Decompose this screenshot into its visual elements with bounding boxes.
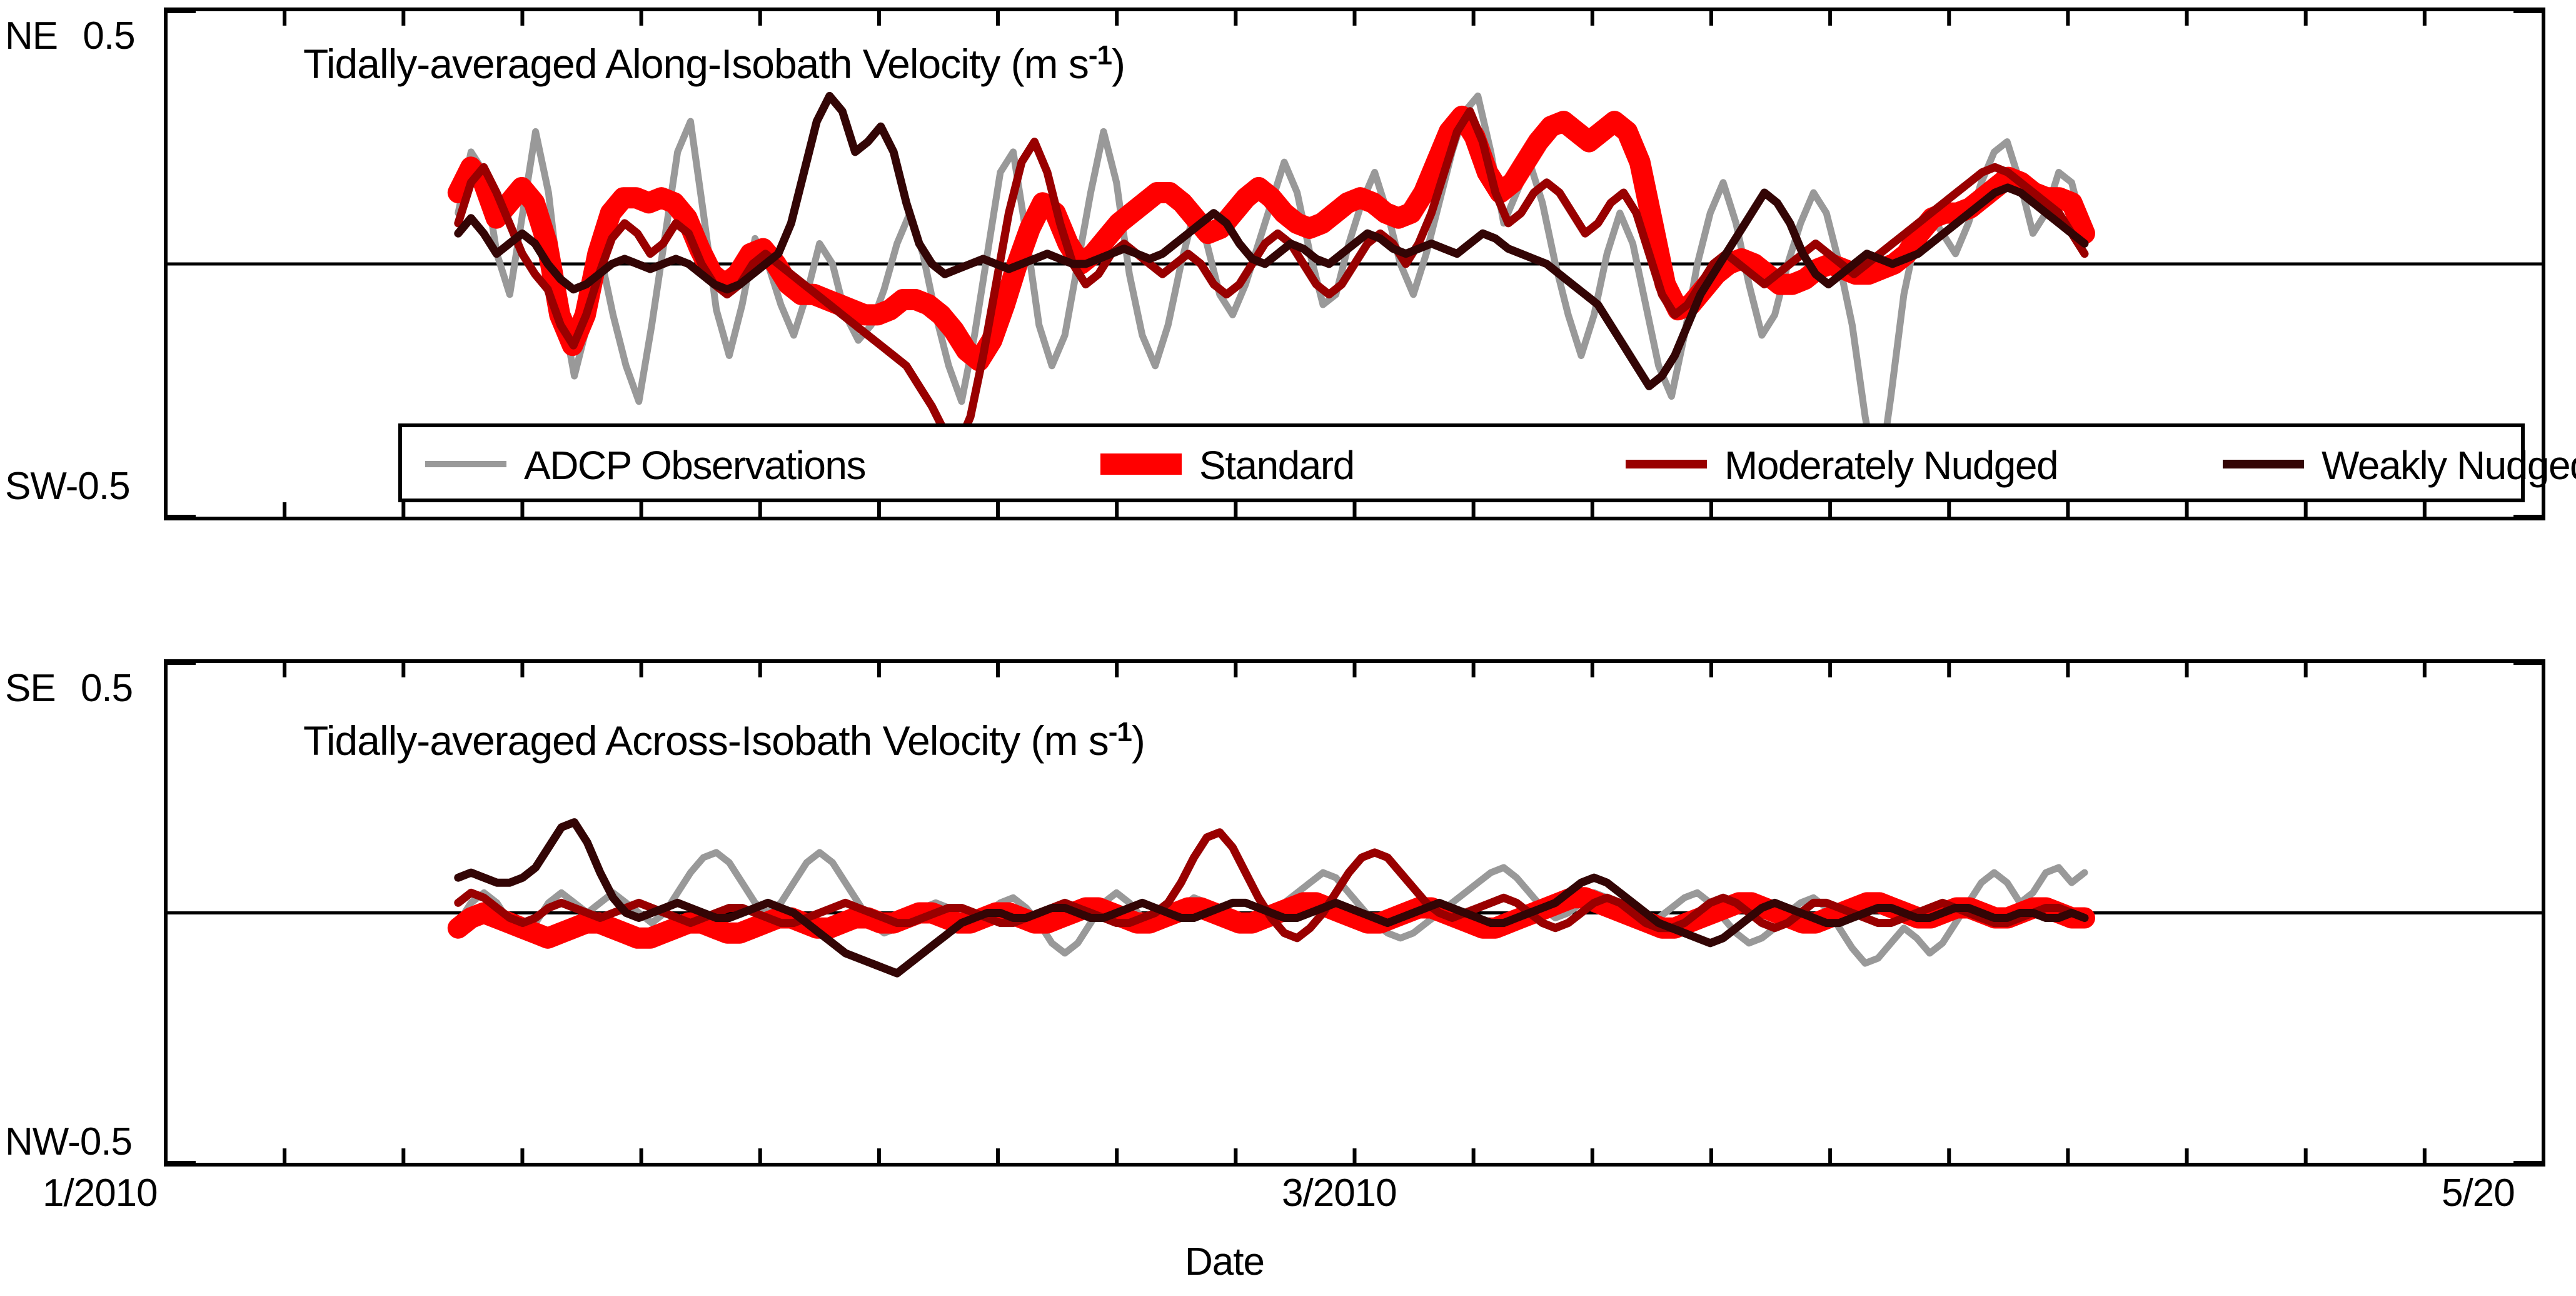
figure-root: NE 0.5 SW-0.5 SE 0.5 NW-0.5 1/2010 3/201… [0,0,2576,1296]
legend-label-adcp: ADCP Observations [524,443,865,488]
panel-title: Tidally-averaged Along-Isobath Velocity … [303,40,1125,87]
legend: ADCP ObservationsStandardModerately Nudg… [400,425,2576,500]
panel-title-exponent: -1 [1089,40,1112,71]
chart-svg: Tidally-averaged Along-Isobath Velocity … [0,0,2576,1296]
panel1-ytick-bottom-label: -0.5 [66,465,130,508]
panel2-ylabel-top: SE 0.5 [5,666,133,711]
legend-label-standard: Standard [1199,443,1354,488]
panel2-ylabel-top-text: SE [5,667,56,710]
panel-title-tail: ) [1112,41,1125,87]
xtick-label-mid: 3/2010 [1282,1171,1397,1215]
xtick-label-start: 1/2010 [43,1171,158,1215]
series-line-weakly-nudged [458,823,2085,974]
legend-label-moderately-nudged: Moderately Nudged [1724,443,2058,488]
panel1-ylabel-top: NE 0.5 [5,14,135,58]
panel-title: Tidally-averaged Across-Isobath Velocity… [303,717,1145,764]
panel1-ylabel-top-text: NE [5,14,58,58]
xaxis-title: Date [1185,1240,1264,1284]
xtick-label-end: 5/20 [2442,1171,2515,1215]
panel2-ylabel-bottom: NW-0.5 [5,1120,132,1164]
panel2-ytick-top-label: 0.5 [81,667,133,710]
panel-title-tail: ) [1132,717,1145,764]
panel1-ylabel-bottom-text: SW [5,465,66,508]
legend-label-weakly-nudged: Weakly Nudged [2322,443,2576,488]
panel-2: Tidally-averaged Across-Isobath Velocity… [166,661,2543,1165]
panel2-ylabel-bottom-text: NW [5,1120,68,1163]
panel1-ylabel-bottom: SW-0.5 [5,464,130,509]
panel-title-exponent: -1 [1109,717,1132,747]
panel1-ytick-top-label: 0.5 [83,14,134,58]
panel2-ytick-bottom-label: -0.5 [68,1120,132,1163]
